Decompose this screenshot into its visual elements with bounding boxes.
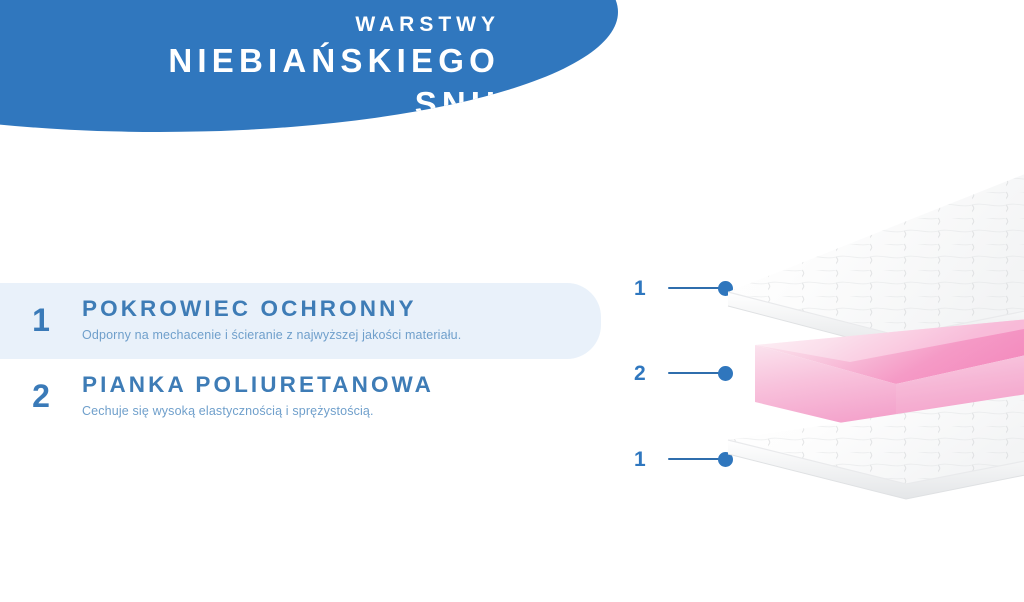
list-item-text: PIANKA POLIURETANOWA Cechuje się wysoką … [82, 373, 601, 421]
callout-number: 2 [634, 363, 658, 384]
callout-number: 1 [634, 278, 658, 299]
list-item-title: POKROWIEC OCHRONNY [82, 297, 581, 322]
header-line-2: NIEBIAŃSKIEGO [0, 35, 500, 77]
header-line-1: WARSTWY [0, 0, 500, 35]
list-item-description: Odporny na mechacenie i ścieranie z najw… [82, 326, 581, 345]
layer-top-quilted-cover [728, 168, 1024, 351]
header-title-block: WARSTWY NIEBIAŃSKIEGO SNU [0, 0, 618, 132]
header-banner: WARSTWY NIEBIAŃSKIEGO SNU [0, 0, 618, 132]
list-item[interactable]: 1 POKROWIEC OCHRONNY Odporny na mechacen… [0, 283, 601, 359]
callout-number: 1 [634, 449, 658, 470]
list-item-description: Cechuje się wysoką elastycznością i sprę… [82, 402, 581, 421]
layer-list: 1 POKROWIEC OCHRONNY Odporny na mechacen… [0, 283, 620, 435]
list-item-number: 2 [0, 380, 82, 414]
infographic-canvas: WARSTWY NIEBIAŃSKIEGO SNU 1 POKROWIEC OC… [0, 0, 1024, 602]
list-item-title: PIANKA POLIURETANOWA [82, 373, 581, 398]
list-item[interactable]: 2 PIANKA POLIURETANOWA Cechuje się wysok… [0, 359, 601, 435]
header-line-3: SNU [0, 77, 500, 120]
list-item-text: POKROWIEC OCHRONNY Odporny na mechacenie… [82, 297, 601, 345]
mattress-exploded-diagram [700, 140, 1024, 560]
list-item-number: 1 [0, 304, 82, 338]
